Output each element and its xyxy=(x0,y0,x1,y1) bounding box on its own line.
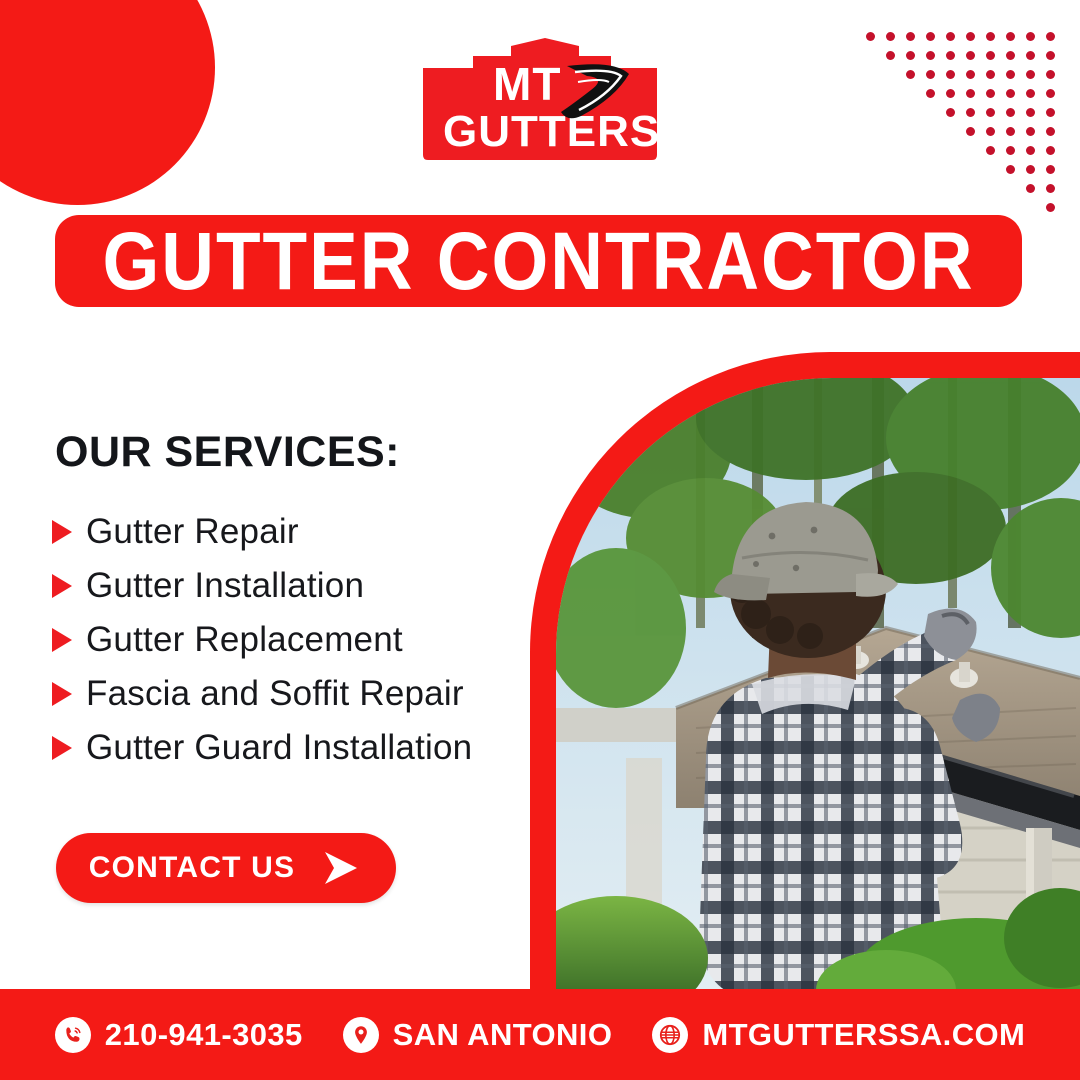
contact-footer-bar: 210-941-3035 SAN ANTONIO MTGUTTERSSA.COM xyxy=(0,989,1080,1080)
grid-dot xyxy=(1026,165,1035,174)
grid-dot xyxy=(1026,108,1035,117)
services-list: Gutter RepairGutter InstallationGutter R… xyxy=(52,505,472,775)
phone-number: 210-941-3035 xyxy=(105,1017,303,1053)
grid-dot xyxy=(1026,51,1035,60)
service-label: Fascia and Soffit Repair xyxy=(86,674,464,714)
grid-dot xyxy=(1046,89,1055,98)
grid-dot xyxy=(986,108,995,117)
hero-photo xyxy=(556,378,1080,992)
services-heading: OUR SERVICES: xyxy=(55,428,400,477)
grid-dot xyxy=(986,32,995,41)
bullet-arrow-icon xyxy=(52,682,72,706)
grid-dot xyxy=(906,32,915,41)
grid-dot xyxy=(1026,89,1035,98)
bullet-arrow-icon xyxy=(52,736,72,760)
service-label: Gutter Guard Installation xyxy=(86,728,472,768)
dot-row xyxy=(855,85,1055,104)
grid-dot xyxy=(1006,165,1015,174)
grid-dot xyxy=(1026,146,1035,155)
grid-dot xyxy=(1006,70,1015,79)
footer-phone[interactable]: 210-941-3035 xyxy=(55,1017,303,1053)
grid-dot xyxy=(1006,146,1015,155)
grid-dot xyxy=(1006,89,1015,98)
grid-dot xyxy=(986,146,995,155)
dot-row xyxy=(855,123,1055,142)
grid-dot xyxy=(1006,108,1015,117)
footer-website[interactable]: MTGUTTERSSA.COM xyxy=(652,1017,1025,1053)
grid-dot xyxy=(946,32,955,41)
grid-dot xyxy=(1026,32,1035,41)
grid-dot xyxy=(966,108,975,117)
phone-icon xyxy=(55,1017,91,1053)
grid-dot xyxy=(1006,51,1015,60)
grid-dot xyxy=(906,70,915,79)
grid-dot xyxy=(926,51,935,60)
grid-dot xyxy=(866,32,875,41)
grid-dot xyxy=(926,89,935,98)
grid-dot xyxy=(986,70,995,79)
contact-us-button[interactable]: CONTACT US xyxy=(56,833,396,903)
map-pin-icon xyxy=(343,1017,379,1053)
grid-dot xyxy=(946,108,955,117)
dot-row xyxy=(855,47,1055,66)
service-list-item: Gutter Guard Installation xyxy=(52,721,472,775)
grid-dot xyxy=(966,51,975,60)
bullet-arrow-icon xyxy=(52,520,72,544)
footer-location[interactable]: SAN ANTONIO xyxy=(343,1017,613,1053)
grid-dot xyxy=(1046,51,1055,60)
grid-dot xyxy=(926,70,935,79)
contact-us-label: CONTACT US xyxy=(89,851,295,885)
grid-dot xyxy=(1026,184,1035,193)
grid-dot xyxy=(886,51,895,60)
grid-dot xyxy=(946,70,955,79)
grid-dot xyxy=(1046,32,1055,41)
grid-dot xyxy=(966,89,975,98)
chevron-right-icon xyxy=(317,848,363,888)
service-list-item: Gutter Replacement xyxy=(52,613,472,667)
grid-dot xyxy=(986,127,995,136)
location-name: SAN ANTONIO xyxy=(393,1017,613,1053)
grid-dot xyxy=(1046,165,1055,174)
dot-row xyxy=(855,180,1055,199)
grid-dot xyxy=(1006,127,1015,136)
grid-dot xyxy=(946,51,955,60)
service-label: Gutter Repair xyxy=(86,512,299,552)
grid-dot xyxy=(1046,146,1055,155)
grid-dot xyxy=(966,32,975,41)
hero-photo-frame xyxy=(530,352,1080,992)
dot-row xyxy=(855,28,1055,47)
grid-dot xyxy=(1046,70,1055,79)
grid-dot xyxy=(926,32,935,41)
service-list-item: Gutter Installation xyxy=(52,559,472,613)
grid-dot xyxy=(1026,70,1035,79)
grid-dot xyxy=(986,51,995,60)
page-title: GUTTER CONTRACTOR xyxy=(102,220,974,302)
bullet-arrow-icon xyxy=(52,628,72,652)
grid-dot xyxy=(1046,203,1055,212)
grid-dot xyxy=(906,51,915,60)
dot-row xyxy=(855,142,1055,161)
grid-dot xyxy=(946,89,955,98)
grid-dot xyxy=(986,89,995,98)
triangular-dot-grid-icon xyxy=(855,28,1055,218)
svg-text:GUTTERS: GUTTERS xyxy=(443,107,660,156)
grid-dot xyxy=(1046,184,1055,193)
grid-dot xyxy=(1046,108,1055,117)
globe-icon xyxy=(652,1017,688,1053)
grid-dot xyxy=(1006,32,1015,41)
grid-dot xyxy=(966,70,975,79)
website-url: MTGUTTERSSA.COM xyxy=(702,1017,1025,1053)
service-label: Gutter Installation xyxy=(86,566,364,606)
headline-banner: GUTTER CONTRACTOR xyxy=(55,215,1022,307)
svg-text:MT: MT xyxy=(493,58,561,110)
brand-logo: MT GUTTERS xyxy=(415,38,665,163)
logo-badge-icon: MT GUTTERS xyxy=(415,38,665,163)
service-list-item: Gutter Repair xyxy=(52,505,472,559)
service-list-item: Fascia and Soffit Repair xyxy=(52,667,472,721)
grid-dot xyxy=(1026,127,1035,136)
grid-dot xyxy=(1046,127,1055,136)
dot-row xyxy=(855,66,1055,85)
dot-row xyxy=(855,104,1055,123)
grid-dot xyxy=(886,32,895,41)
corner-blob-decoration xyxy=(0,0,215,205)
dot-row xyxy=(855,161,1055,180)
grid-dot xyxy=(966,127,975,136)
service-label: Gutter Replacement xyxy=(86,620,403,660)
gutter-installer-photo xyxy=(556,378,1080,992)
bullet-arrow-icon xyxy=(52,574,72,598)
